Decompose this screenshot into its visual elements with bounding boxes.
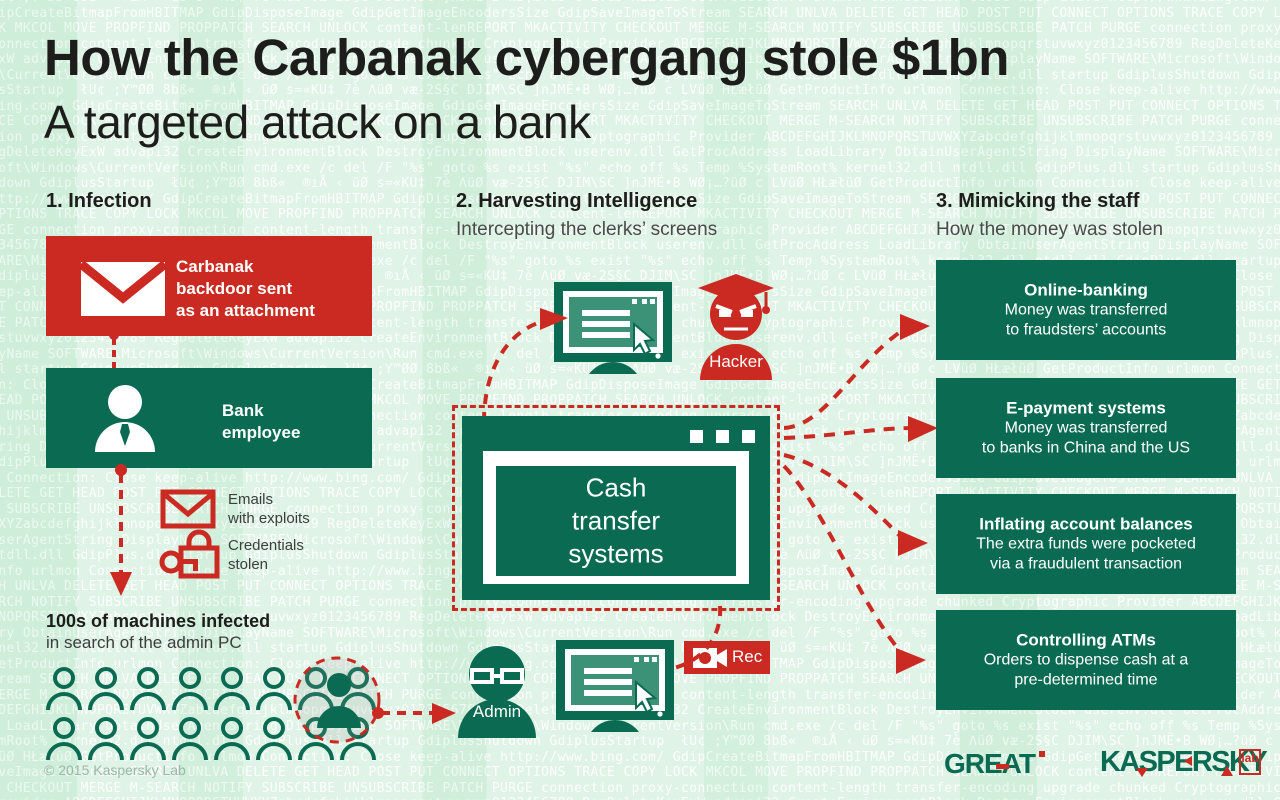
- kaspersky-logo-accent-3: [1221, 766, 1233, 776]
- outcome-card-desc-2: via a fraudulent transaction: [946, 555, 1226, 575]
- outcome-card-desc-2: to banks in China and the US: [946, 439, 1226, 459]
- section-subheading-harvesting: Intercepting the clerks’ screens: [456, 219, 717, 241]
- cash-transfer-line-3: systems: [496, 538, 736, 571]
- person-outline-body: [90, 694, 122, 710]
- person-icon: [92, 384, 158, 452]
- envelope-icon: [78, 258, 168, 318]
- person-outline-icon: [139, 719, 157, 737]
- employee-line-1: Bank: [222, 400, 300, 422]
- great-logo-accent-dot: [1039, 751, 1045, 757]
- outcome-card-online-banking: Online-banking Money was transferred to …: [936, 260, 1236, 360]
- backdoor-line-3: as an attachment: [176, 300, 315, 322]
- person-outline-body: [48, 744, 80, 760]
- admin-label: Admin: [458, 702, 536, 722]
- bullet-credentials-line-2: stolen: [228, 555, 304, 574]
- backdoor-box: Carbanak backdoor sent as an attachment: [46, 236, 372, 336]
- backdoor-line-1: Carbanak: [176, 256, 315, 278]
- person-outline-icon: [223, 719, 241, 737]
- machines-infected-title: 100s of machines infected: [46, 611, 270, 632]
- person-outline-body: [258, 694, 290, 710]
- person-outline-icon: [139, 669, 157, 687]
- section-heading-harvesting: 2. Harvesting Intelligence: [456, 190, 697, 213]
- person-outline-body: [132, 694, 164, 710]
- window-canvas: Cash transfer systems: [483, 451, 749, 584]
- admin-icon: [458, 644, 536, 738]
- outcome-card-e-payment: E-payment systems Money was transferred …: [936, 378, 1236, 478]
- bullet-emails-line-2: with exploits: [228, 509, 310, 528]
- outcome-card-desc-1: Money was transferred: [946, 419, 1226, 439]
- section-subheading-mimicking: How the money was stolen: [936, 219, 1163, 241]
- window-button-2[interactable]: [716, 430, 729, 443]
- kaspersky-logo: KASPERSKY lab: [1100, 746, 1266, 779]
- outcome-card-title: Online-banking: [946, 280, 1226, 301]
- person-outline-icon: [55, 719, 73, 737]
- outcome-card-desc-1: Money was transferred: [946, 301, 1226, 321]
- copyright-text: © 2015 Kaspersky Lab: [44, 762, 186, 778]
- person-outline-icon: [181, 669, 199, 687]
- arrows-to-outcome-cards: [776, 300, 946, 700]
- bullet-credentials-line-1: Credentials: [228, 536, 304, 555]
- person-outline-icon: [97, 669, 115, 687]
- great-logo-accent-bar: [996, 764, 1009, 769]
- outcome-card-desc-1: Orders to dispense cash at a: [946, 651, 1226, 671]
- outcome-card-desc-1: The extra funds were pocketed: [946, 535, 1226, 555]
- person-outline-icon: [181, 719, 199, 737]
- section-heading-mimicking: 3. Mimicking the staff: [936, 190, 1139, 213]
- kaspersky-logo-accent-1: [1136, 768, 1148, 777]
- outcome-card-desc-2: pre-determined time: [946, 671, 1226, 691]
- outcome-card-inflating-balances: Inflating account balances The extra fun…: [936, 494, 1236, 594]
- arrow-machines-to-admin: [372, 700, 460, 726]
- outcome-card-title: Inflating account balances: [946, 514, 1226, 535]
- clerk-screen-icon-bottom: [556, 640, 674, 744]
- person-outline-icon: [223, 669, 241, 687]
- bullet-emails-line-1: Emails: [228, 490, 310, 509]
- person-icon-infected-admin: [313, 672, 365, 728]
- bullet-emails-label: Emails with exploits: [228, 490, 310, 528]
- bullet-credentials-label: Credentials stolen: [228, 536, 304, 574]
- person-outline-body: [90, 744, 122, 760]
- person-outline-icon: [55, 669, 73, 687]
- cash-transfer-inner: Cash transfer systems: [496, 466, 736, 576]
- window-button-1[interactable]: [690, 430, 703, 443]
- person-outline-icon: [265, 719, 283, 737]
- cash-transfer-line-1: Cash: [496, 472, 736, 505]
- person-outline-icon: [265, 669, 283, 687]
- section-heading-infection: 1. Infection: [46, 190, 152, 213]
- machines-infected-subtitle: in search of the admin PC: [46, 633, 242, 653]
- cash-transfer-line-2: transfer: [496, 505, 736, 538]
- envelope-outline-icon: [160, 489, 216, 529]
- great-logo-text: GREAT: [944, 748, 1035, 779]
- great-logo: GREAT: [944, 748, 1035, 780]
- employee-line-2: employee: [222, 422, 300, 444]
- page-title: How the Carbanak cybergang stole $1bn: [44, 28, 1009, 87]
- outcome-card-title: E-payment systems: [946, 398, 1226, 419]
- bank-employee-box: Bank employee: [46, 368, 372, 468]
- kaspersky-logo-lab-box: lab: [1239, 749, 1261, 775]
- person-outline-body: [258, 744, 290, 760]
- person-outline-icon: [97, 719, 115, 737]
- page-subtitle: A targeted attack on a bank: [44, 95, 591, 149]
- outcome-card-controlling-atms: Controlling ATMs Orders to dispense cash…: [936, 610, 1236, 710]
- outcome-card-title: Controlling ATMs: [946, 630, 1226, 651]
- window-button-3[interactable]: [742, 430, 755, 443]
- person-outline-body: [174, 744, 206, 760]
- person-outline-body: [174, 694, 206, 710]
- person-outline-body: [132, 744, 164, 760]
- arrow-rec-to-cash-transfer: [660, 600, 730, 690]
- person-outline-body: [216, 744, 248, 760]
- lock-icon: [160, 534, 220, 578]
- outcome-card-desc-2: to fraudsters’ accounts: [946, 321, 1226, 341]
- cash-transfer-window: Cash transfer systems: [462, 416, 770, 600]
- backdoor-line-2: backdoor sent: [176, 278, 315, 300]
- person-outline-body: [48, 694, 80, 710]
- hacker-label: Hacker: [688, 352, 784, 372]
- kaspersky-logo-accent-2: [1184, 756, 1192, 766]
- rec-label: Rec: [732, 647, 762, 667]
- person-outline-body: [216, 694, 248, 710]
- arrow-employee-to-machines: [104, 464, 140, 600]
